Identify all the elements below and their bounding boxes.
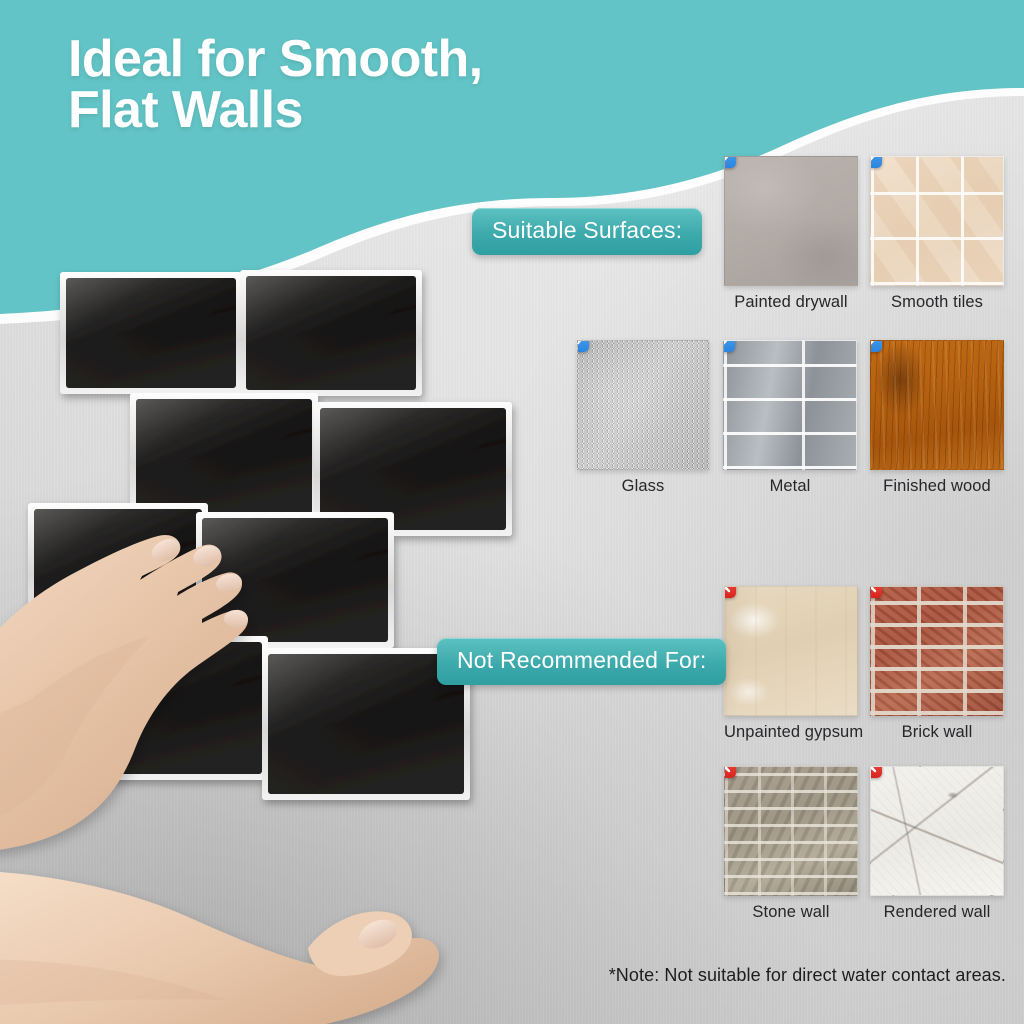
swatch-image-unpainted-gypsum bbox=[724, 586, 858, 716]
swatch-image-metal bbox=[723, 340, 857, 470]
page-title: Ideal for Smooth, Flat Walls bbox=[68, 34, 482, 136]
check-icon bbox=[577, 340, 589, 352]
swatch-image-brick-wall bbox=[870, 586, 1004, 716]
check-icon bbox=[870, 156, 882, 168]
swatch-cell-brick-wall[interactable]: Brick wall bbox=[870, 586, 1004, 742]
swatch-cell-metal[interactable]: Metal bbox=[723, 340, 857, 496]
swatch-label: Brick wall bbox=[870, 723, 1004, 742]
swatch-image-rendered-wall bbox=[870, 766, 1004, 896]
upper-hand bbox=[0, 534, 248, 854]
swatch-label: Finished wood bbox=[870, 477, 1004, 496]
swatch-image-glass bbox=[577, 340, 709, 470]
swatch-label: Stone wall bbox=[724, 903, 858, 922]
swatch-image-smooth-tiles bbox=[870, 156, 1004, 286]
infographic-stage: Ideal for Smooth, Flat Walls Suitable Su… bbox=[0, 0, 1024, 1024]
swatch-image-stone-wall bbox=[724, 766, 858, 896]
swatch-label: Painted drywall bbox=[724, 293, 858, 312]
swatch-label: Glass bbox=[577, 477, 709, 496]
swatch-label: Metal bbox=[723, 477, 857, 496]
swatch-label: Unpainted gypsum bbox=[724, 723, 858, 742]
swatch-cell-unpainted-gypsum[interactable]: Unpainted gypsum bbox=[724, 586, 858, 742]
x-icon bbox=[724, 586, 736, 598]
x-icon bbox=[870, 586, 882, 598]
swatch-image-painted-drywall bbox=[724, 156, 858, 286]
swatch-cell-finished-wood[interactable]: Finished wood bbox=[870, 340, 1004, 496]
swatch-cell-stone-wall[interactable]: Stone wall bbox=[724, 766, 858, 922]
swatch-image-finished-wood bbox=[870, 340, 1004, 470]
x-icon bbox=[724, 766, 736, 778]
swatch-cell-smooth-tiles[interactable]: Smooth tiles bbox=[870, 156, 1004, 312]
check-icon bbox=[723, 340, 735, 352]
hands-applying-tile bbox=[0, 400, 510, 1024]
swatch-label: Rendered wall bbox=[870, 903, 1004, 922]
swatch-cell-glass[interactable]: Glass bbox=[577, 340, 709, 496]
x-icon bbox=[870, 766, 882, 778]
check-icon bbox=[724, 156, 736, 168]
suitable-surfaces-label: Suitable Surfaces: bbox=[472, 208, 702, 255]
swatch-cell-rendered-wall[interactable]: Rendered wall bbox=[870, 766, 1004, 922]
check-icon bbox=[870, 340, 882, 352]
swatch-label: Smooth tiles bbox=[870, 293, 1004, 312]
footer-note: *Note: Not suitable for direct water con… bbox=[609, 965, 1006, 986]
swatch-cell-painted-drywall[interactable]: Painted drywall bbox=[724, 156, 858, 312]
lower-hand bbox=[0, 870, 439, 1024]
not-recommended-label: Not Recommended For: bbox=[437, 638, 726, 685]
